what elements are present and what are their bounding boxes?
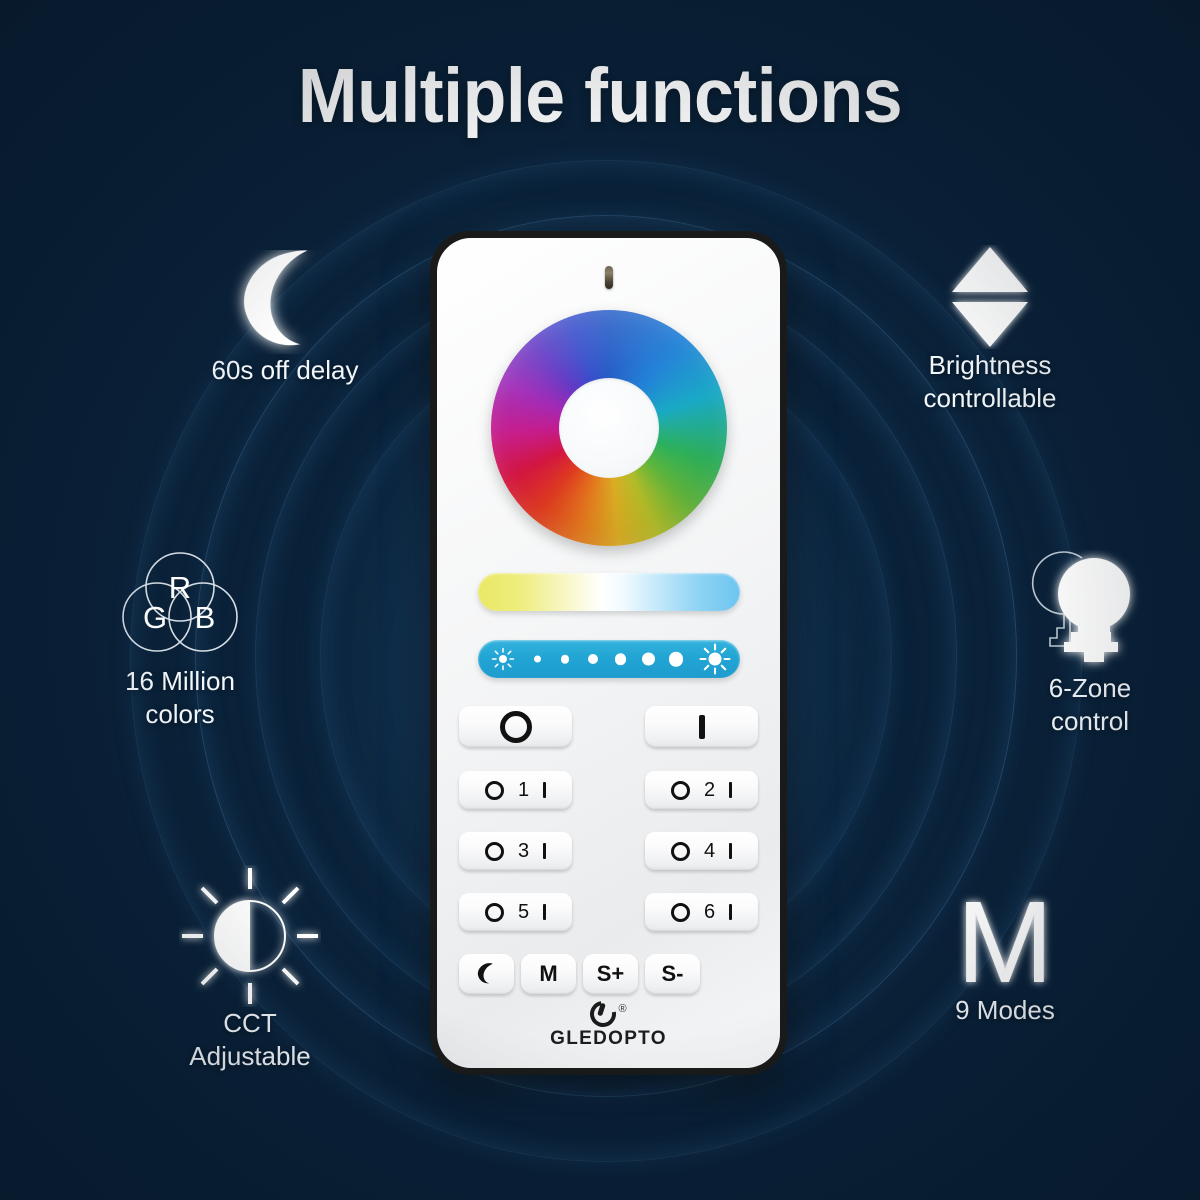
zone-number: 2	[704, 779, 715, 802]
zone-number: 3	[518, 840, 529, 863]
gledopto-logo-icon	[590, 1001, 616, 1027]
poster-canvas: Multiple functions 60s off delay	[0, 0, 1200, 1200]
zone-3-button[interactable]: 3	[459, 832, 572, 870]
circle-off-icon	[485, 842, 504, 861]
zone-number: 5	[518, 901, 529, 924]
sun-large-icon	[699, 643, 731, 675]
feature-9-modes: M 9 Modes	[880, 890, 1130, 1027]
cct-slider[interactable]	[478, 573, 740, 611]
circle-off-icon	[671, 903, 690, 922]
sun-half-icon	[110, 865, 390, 1007]
circle-off-icon	[500, 711, 532, 743]
all-off-button[interactable]	[459, 706, 572, 747]
circle-off-icon	[671, 781, 690, 800]
crescent-moon-icon	[130, 250, 440, 354]
circle-off-icon	[485, 903, 504, 922]
bar-on-icon	[729, 904, 732, 920]
feature-60s-off-delay: 60s off delay	[130, 250, 440, 387]
remote-faceplate: 1 2 3 4	[437, 238, 780, 1068]
feature-label: 6-Zone control	[975, 672, 1200, 738]
brightness-step-dot	[588, 654, 598, 664]
zone-number: 4	[704, 840, 715, 863]
zone-1-button[interactable]: 1	[459, 771, 572, 809]
feature-6-zone-control: 6-Zone control	[975, 550, 1200, 738]
circle-off-icon	[671, 842, 690, 861]
feature-label: 60s off delay	[130, 354, 440, 387]
feature-brightness-controllable: Brightness controllable	[830, 245, 1150, 415]
mode-button[interactable]: M	[521, 954, 576, 994]
feature-label: CCT Adjustable	[110, 1007, 390, 1073]
rgb-venn-icon: R G B	[55, 545, 305, 665]
circle-off-icon	[485, 781, 504, 800]
zone-4-button[interactable]: 4	[645, 832, 758, 870]
speed-down-button[interactable]: S-	[645, 954, 700, 994]
rgb-letter-r: R	[169, 570, 191, 605]
feature-cct-adjustable: CCT Adjustable	[110, 865, 390, 1073]
brightness-slider[interactable]	[478, 640, 740, 678]
bar-on-icon	[543, 843, 546, 859]
bar-on-icon	[699, 715, 705, 739]
brand-mark: ® GLEDOPTO	[437, 1001, 780, 1050]
brightness-step-dot	[669, 652, 684, 667]
moon-icon	[475, 962, 499, 986]
night-mode-button[interactable]	[459, 954, 514, 994]
ir-led-indicator	[605, 266, 613, 289]
brightness-step-dot	[642, 653, 655, 666]
brightness-step-dot	[561, 655, 570, 664]
speed-up-button[interactable]: S+	[583, 954, 638, 994]
bar-on-icon	[729, 843, 732, 859]
speed-down-label: S-	[662, 961, 684, 987]
bar-on-icon	[543, 782, 546, 798]
brightness-step-dot	[534, 656, 541, 663]
sun-small-icon	[491, 647, 515, 671]
all-on-button[interactable]	[645, 706, 758, 747]
speed-up-label: S+	[597, 961, 625, 987]
zone-number: 6	[704, 901, 715, 924]
zone-5-button[interactable]: 5	[459, 893, 572, 931]
brightness-step-dot	[615, 653, 627, 665]
letter-m-icon: M	[880, 890, 1130, 994]
zone-6-button[interactable]: 6	[645, 893, 758, 931]
feature-16-million-colors: R G B 16 Million colors	[55, 545, 305, 731]
feature-label: 9 Modes	[880, 994, 1130, 1027]
rgb-letter-b: B	[195, 600, 216, 635]
registered-trademark: ®	[618, 1003, 626, 1015]
rgb-letter-g: G	[143, 600, 167, 635]
zone-number: 1	[518, 779, 529, 802]
feature-label: 16 Million colors	[55, 665, 305, 731]
feature-label: Brightness controllable	[830, 349, 1150, 415]
bulbs-group-icon	[975, 550, 1200, 672]
modes-letter: M	[957, 890, 1054, 994]
mode-button-label: M	[539, 961, 557, 987]
up-down-triangles-icon	[830, 245, 1150, 349]
color-wheel-gloss	[491, 310, 727, 546]
remote-control-device: 1 2 3 4	[430, 231, 787, 1075]
rgb-color-wheel[interactable]	[491, 310, 727, 546]
bar-on-icon	[543, 904, 546, 920]
bar-on-icon	[729, 782, 732, 798]
zone-2-button[interactable]: 2	[645, 771, 758, 809]
brand-name: GLEDOPTO	[437, 1028, 780, 1050]
page-title: Multiple functions	[42, 52, 1158, 141]
